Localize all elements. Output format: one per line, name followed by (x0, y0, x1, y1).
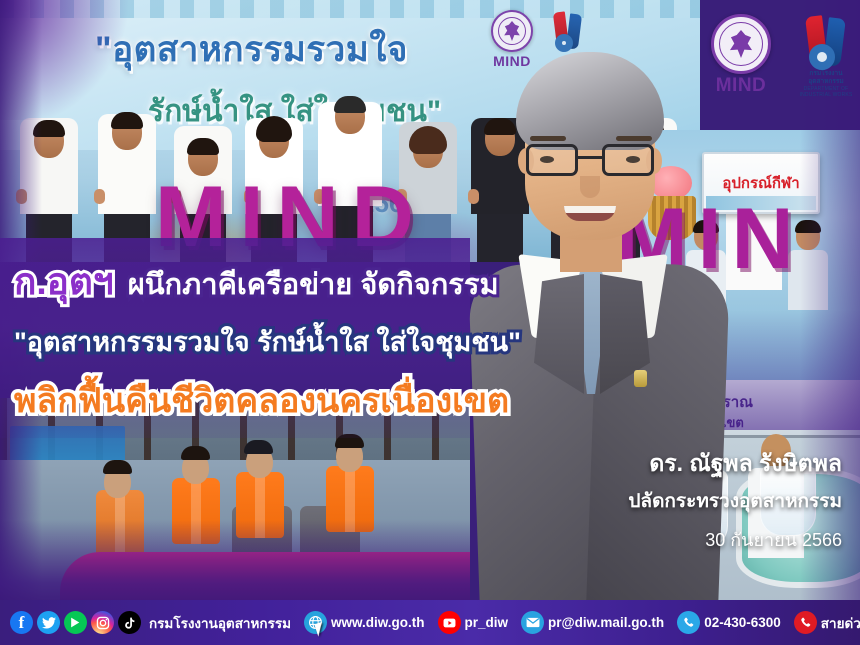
youtube-icon[interactable] (438, 611, 461, 634)
phone-group[interactable]: 02-430-6300 (677, 611, 781, 634)
headline-line-1: ผนึกภาคีเครือข่าย จัดกิจกรรม (128, 261, 499, 307)
phone-label[interactable]: 02-430-6300 (704, 615, 781, 630)
twitter-icon[interactable] (37, 611, 60, 634)
diw-logo-th: กรมโรงงานอุตสาหกรรม (798, 70, 854, 86)
speaker-role: ปลัดกระทรวงอุตสาหกรรม (628, 486, 842, 516)
diw-logo-en: DEPARTMENT OF INDUSTRIAL WORKS (798, 86, 854, 98)
website-label[interactable]: www.diw.go.th (331, 615, 425, 630)
hotline-label: สายด่วน (821, 612, 860, 634)
facebook-icon[interactable]: f (10, 611, 33, 634)
ministry-seal-icon (711, 14, 771, 74)
headline-line-3: พลิกฟื้นคืนชีวิตคลองนครเนื่องเขต (14, 373, 634, 427)
nose (580, 176, 600, 198)
mouth (564, 206, 616, 221)
boat-rider-hair (181, 446, 210, 460)
line-icon[interactable] (64, 611, 87, 634)
eyebrow-left (530, 136, 566, 141)
headline-keyword: ก.อุตฯ (14, 252, 114, 311)
speaker-name: ดร. ณัฐพล รังษิตพล (628, 446, 842, 482)
diw-flame-icon (552, 12, 584, 50)
lapel-pin (634, 370, 647, 387)
email-group[interactable]: pr@diw.mail.go.th (521, 611, 664, 634)
headline-line-2: "อุตสาหกรรมรวมใจ รักษ์น้ำใส ใส่ใจชุมชน" (14, 320, 634, 363)
phone-icon[interactable] (677, 611, 700, 634)
headline-row-1: ก.อุตฯ ผนึกภาคีเครือข่าย จัดกิจกรรม (14, 252, 634, 311)
youtube-label[interactable]: pr_diw (465, 615, 509, 630)
diw-flame-icon (804, 16, 848, 68)
social-group: f กรมโรงงานอุตสาหกรรม (10, 611, 291, 634)
eyeglasses (526, 144, 654, 178)
backdrop-mind-logo: MIND (486, 10, 538, 69)
tint-bottom-band (0, 520, 470, 610)
mind-wordmark: MIND (486, 53, 538, 69)
hotline-group[interactable]: สายด่วน 1564 (794, 611, 860, 634)
tiktok-icon[interactable] (118, 611, 141, 634)
ministry-seal-icon (491, 10, 533, 52)
headline-block: ก.อุตฯ ผนึกภาคีเครือข่าย จัดกิจกรรม "อุต… (14, 252, 634, 427)
poster-root: "อุตสาหกรรมรวมใจ รักษ์น้ำใส ใส่ใจชุมชน" … (0, 0, 860, 645)
youtube-group[interactable]: pr_diw (438, 611, 509, 634)
boat-rider-cap (244, 440, 273, 454)
social-handle-label: กรมโรงงานอุตสาหกรรม (149, 612, 291, 634)
backdrop-diw-logo (548, 12, 588, 50)
backdrop-headline: "อุตสาหกรรมรวมใจ (95, 22, 515, 77)
diw-logo: กรมโรงงานอุตสาหกรรม DEPARTMENT OF INDUST… (798, 16, 854, 98)
mind-wordmark: MIND (707, 75, 775, 97)
eyebrow-right (616, 136, 652, 141)
speaker-credit: ดร. ณัฐพล รังษิตพล ปลัดกระทรวงอุตสาหกรรม… (628, 446, 842, 554)
email-label[interactable]: pr@diw.mail.go.th (548, 615, 664, 630)
boat-rider-hair (103, 460, 132, 474)
hotline-icon[interactable] (794, 611, 817, 634)
mail-icon[interactable] (521, 611, 544, 634)
event-date: 30 กันยายน 2566 (628, 525, 842, 554)
footer-bar: f กรมโรงงานอุตสาหกรรม www.diw.go.th (0, 600, 860, 645)
mind-logo: MIND (707, 14, 775, 97)
instagram-icon[interactable] (91, 611, 114, 634)
